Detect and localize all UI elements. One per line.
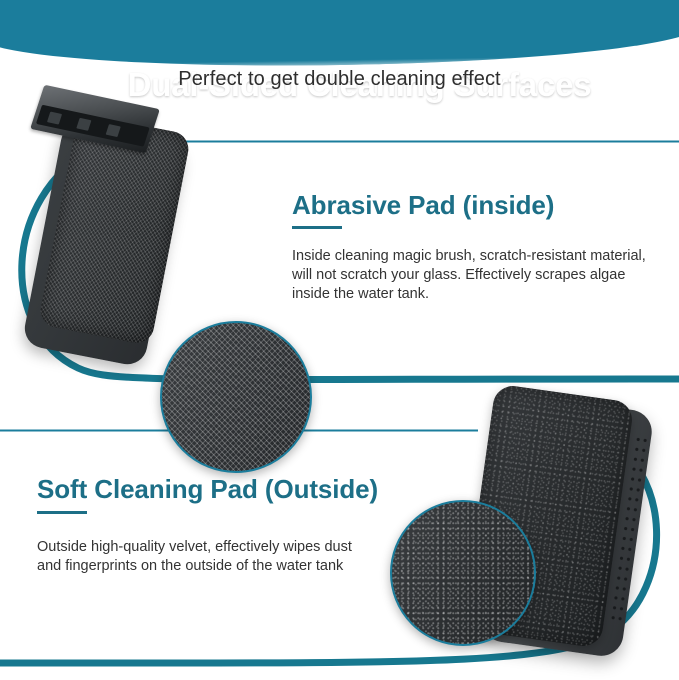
page-subtitle: Perfect to get double cleaning effect — [0, 68, 679, 91]
section2-heading-rule — [37, 511, 87, 514]
abrasive-pad-product — [36, 96, 296, 371]
abrasive-texture-magnifier — [160, 321, 312, 473]
header-banner — [0, 0, 679, 71]
section1-heading-rule — [292, 226, 342, 229]
section1-heading: Abrasive Pad (inside) — [292, 190, 554, 221]
section2-heading: Soft Cleaning Pad (Outside) — [37, 474, 378, 505]
infographic-page: Dual-Sided Cleaning Surfaces Perfect to … — [0, 0, 679, 680]
section1-body-text: Inside cleaning magic brush, scratch-res… — [292, 247, 652, 304]
velvet-pad-product — [400, 378, 679, 663]
velvet-texture-magnifier — [390, 500, 536, 646]
clip-bar — [36, 105, 150, 147]
section2-body-text: Outside high-quality velvet, effectively… — [37, 538, 367, 576]
